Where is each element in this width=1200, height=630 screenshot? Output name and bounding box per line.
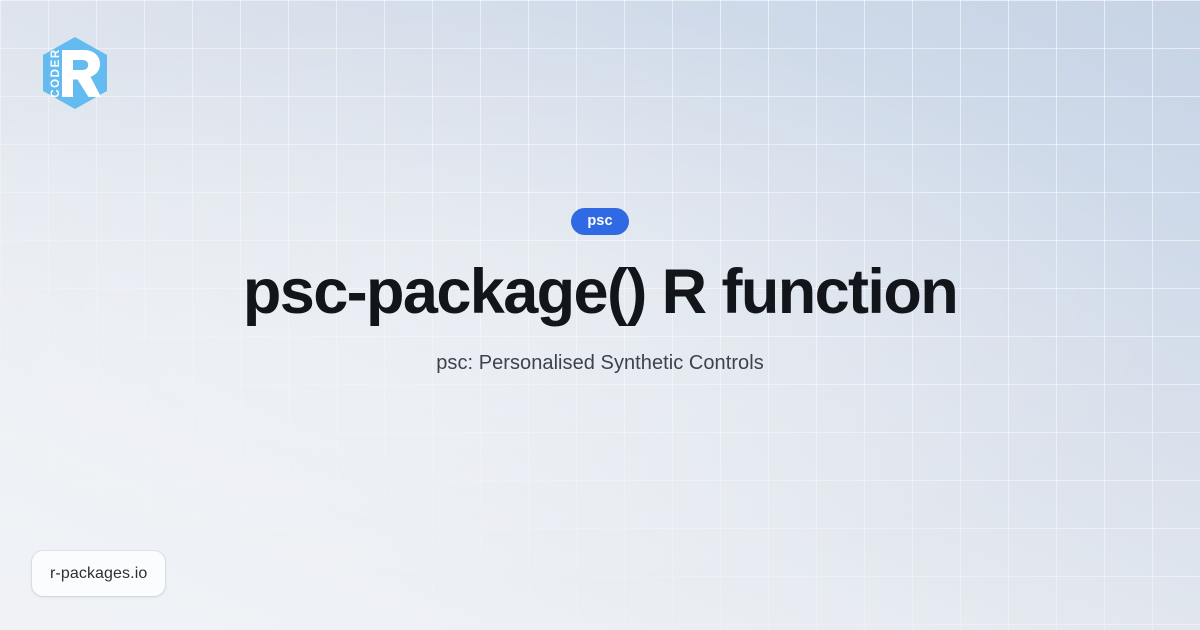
page-subtitle: psc: Personalised Synthetic Controls bbox=[436, 352, 764, 375]
site-domain-chip[interactable]: r-packages.io bbox=[32, 551, 165, 596]
og-image-card: CODER psc psc-package() R function psc: … bbox=[0, 0, 1200, 630]
logo-wordmark-text: CODER bbox=[50, 48, 62, 98]
package-badge[interactable]: psc bbox=[571, 208, 628, 235]
hero-stack: psc psc-package() R function psc: Person… bbox=[0, 208, 1200, 375]
rcoder-hex-logo[interactable]: CODER bbox=[42, 36, 108, 110]
page-title: psc-package() R function bbox=[243, 259, 957, 326]
